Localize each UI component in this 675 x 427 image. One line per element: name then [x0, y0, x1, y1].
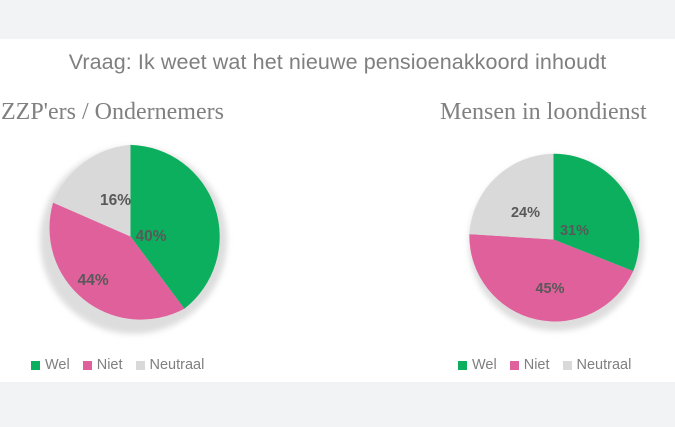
- pie-label-wel-loondienst: 31%: [560, 223, 589, 239]
- pie-label-neutraal-loondienst: 24%: [511, 205, 540, 221]
- page-title: Vraag: Ik weet wat het nieuwe pensioenak…: [0, 50, 675, 75]
- pie-label-niet-zzpers: 44%: [78, 272, 109, 290]
- legend-swatch-niet: [510, 361, 519, 370]
- pie-slice-neutraal[interactable]: [469, 154, 553, 240]
- pie-slices-loondienst: [466, 152, 641, 327]
- legend-loondienst: Wel Niet Neutraal: [458, 358, 631, 373]
- legend-swatch-wel: [31, 361, 40, 370]
- pie-chart-loondienst: 31% 45% 24%: [466, 152, 641, 327]
- legend-label-wel: Wel: [45, 358, 70, 373]
- legend-item-neutraal[interactable]: Neutraal: [136, 358, 205, 373]
- legend-item-wel[interactable]: Wel: [31, 358, 70, 373]
- slide-canvas: Vraag: Ik weet wat het nieuwe pensioenak…: [0, 0, 675, 427]
- chart-title-zzpers: ZZP'ers / Ondernemers: [1, 99, 224, 126]
- legend-item-wel[interactable]: Wel: [458, 358, 497, 373]
- legend-zzpers: Wel Niet Neutraal: [31, 358, 204, 373]
- pie-panel-zzpers: 40% 44% 16%: [0, 130, 300, 380]
- legend-label-neutraal: Neutraal: [577, 358, 632, 373]
- legend-label-neutraal: Neutraal: [150, 358, 205, 373]
- legend-swatch-niet: [83, 361, 92, 370]
- legend-swatch-wel: [458, 361, 467, 370]
- top-band: [0, 0, 675, 39]
- legend-swatch-neutraal: [563, 361, 572, 370]
- bottom-band: [0, 382, 675, 427]
- pie-chart-zzpers: 40% 44% 16%: [37, 143, 224, 330]
- pie-panel-loondienst: 31% 45% 24%: [420, 130, 675, 380]
- legend-label-niet: Niet: [524, 358, 550, 373]
- pie-label-niet-loondienst: 45%: [535, 281, 564, 297]
- chart-title-loondienst: Mensen in loondienst: [440, 99, 647, 126]
- pie-label-wel-zzpers: 40%: [136, 228, 167, 246]
- legend-label-niet: Niet: [97, 358, 123, 373]
- legend-swatch-neutraal: [136, 361, 145, 370]
- legend-label-wel: Wel: [472, 358, 497, 373]
- legend-item-neutraal[interactable]: Neutraal: [563, 358, 632, 373]
- legend-item-niet[interactable]: Niet: [83, 358, 123, 373]
- legend-item-niet[interactable]: Niet: [510, 358, 550, 373]
- pie-label-neutraal-zzpers: 16%: [100, 192, 131, 210]
- pie-slices-zzpers: [37, 143, 224, 330]
